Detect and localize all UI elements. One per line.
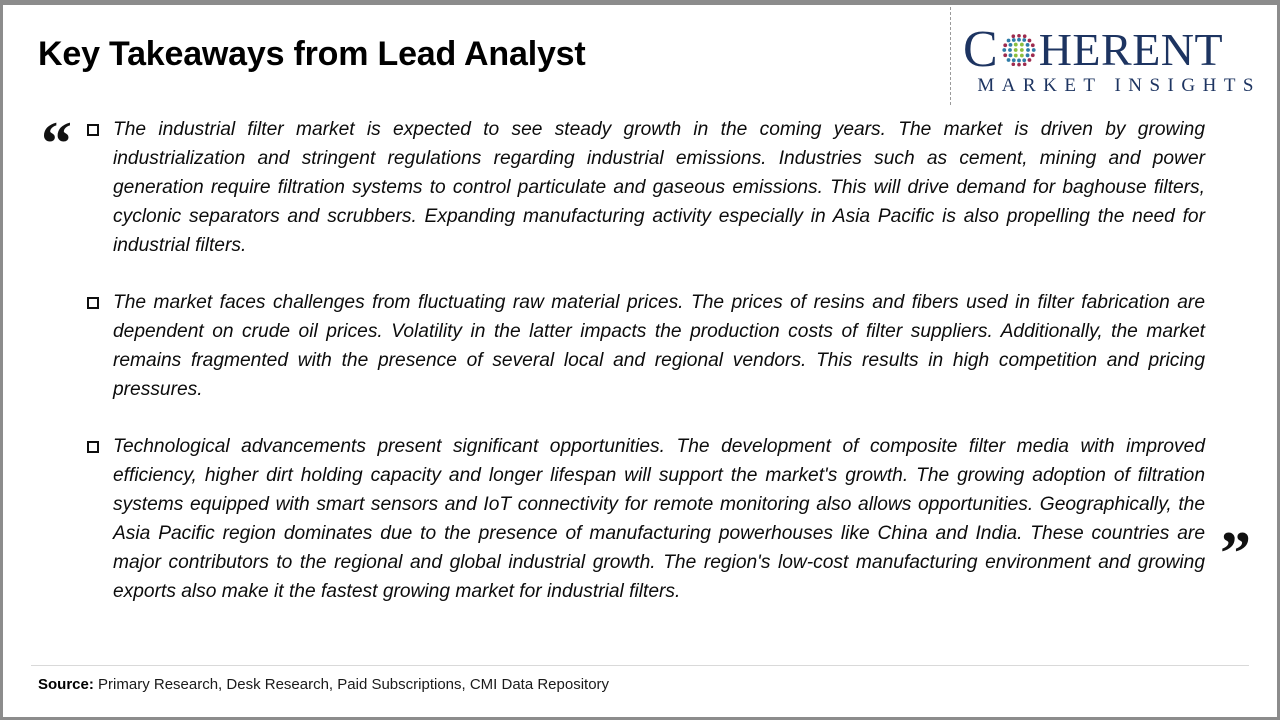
dotted-globe-icon	[1000, 31, 1038, 69]
source-value: Primary Research, Desk Research, Paid Su…	[98, 676, 609, 693]
list-item: The market faces challenges from fluctua…	[87, 288, 1205, 404]
square-bullet-icon	[87, 124, 99, 136]
slide-footer: Source: Primary Research, Desk Research,…	[3, 665, 1277, 717]
logo-letter-c: C	[963, 24, 999, 76]
takeaways-body: “ The industrial filter market is expect…	[3, 109, 1277, 669]
slide-header: Key Takeaways from Lead Analyst C	[3, 5, 1277, 109]
list-item: Technological advancements present signi…	[87, 432, 1205, 606]
slide: Key Takeaways from Lead Analyst C	[0, 0, 1280, 720]
footer-divider	[31, 665, 1249, 666]
open-quote-icon: “	[41, 113, 70, 175]
list-item: The industrial filter market is expected…	[87, 115, 1205, 260]
logo-wordmark: C	[963, 27, 1263, 73]
takeaway-text: The industrial filter market is expected…	[113, 115, 1205, 260]
takeaway-text: Technological advancements present signi…	[113, 432, 1205, 606]
takeaways-list: The industrial filter market is expected…	[87, 115, 1205, 606]
close-quote-icon: ”	[1220, 523, 1249, 585]
square-bullet-icon	[87, 441, 99, 453]
square-bullet-icon	[87, 297, 99, 309]
takeaway-text: The market faces challenges from fluctua…	[113, 288, 1205, 404]
company-logo: C	[963, 27, 1263, 101]
source-label: Source:	[38, 676, 94, 693]
source-line: Source: Primary Research, Desk Research,…	[38, 676, 609, 693]
logo-letters-herent: HERENT	[1039, 27, 1223, 73]
logo-tagline: MARKET INSIGHTS	[963, 75, 1263, 97]
header-divider	[950, 7, 951, 105]
page-title: Key Takeaways from Lead Analyst	[38, 35, 585, 74]
